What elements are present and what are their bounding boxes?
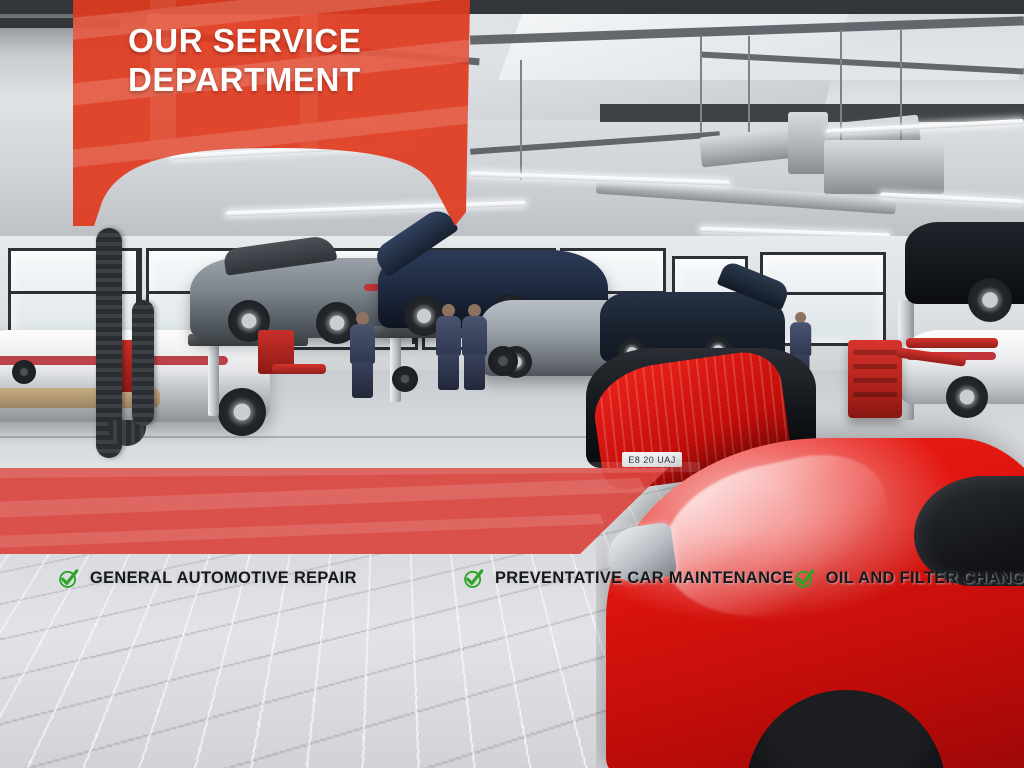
exhaust-extraction-hose [132, 300, 154, 426]
technician-body [436, 316, 461, 356]
description-band-shape [0, 462, 700, 554]
tire-on-floor [392, 366, 418, 392]
tool-drawer [853, 350, 897, 355]
technician-body [350, 324, 375, 364]
service-item-label: GENERAL AUTOMOTIVE REPAIR [90, 569, 357, 588]
duct-hanger [520, 60, 522, 180]
service-item-oil-and-filter-changes: OIL AND FILTER CHANGES [794, 568, 1024, 589]
check-circle-icon [794, 568, 815, 589]
ventilation-duct [788, 112, 828, 174]
ventilation-duct [824, 140, 944, 194]
services-checklist: GENERAL AUTOMOTIVE REPAIR PREVENTATIVE C… [58, 556, 1008, 736]
check-circle-icon [463, 568, 484, 589]
service-department-poster: E8 20 UAJ [0, 0, 1024, 768]
tool-drawer [853, 392, 897, 397]
technician-body [790, 322, 811, 356]
duct-hanger [700, 36, 702, 132]
service-item-label: PREVENTATIVE CAR MAINTENANCE [495, 569, 794, 588]
check-circle-icon [58, 568, 79, 589]
tire-on-floor [12, 360, 36, 384]
floor-jack [906, 338, 998, 348]
header-banner: OUR SERVICE DEPARTMENT [0, 0, 500, 232]
floor-jack [272, 364, 326, 374]
technician-body [462, 316, 487, 356]
service-item-preventative-car-maintenance: PREVENTATIVE CAR MAINTENANCE [463, 568, 794, 589]
duct-hanger [840, 30, 842, 140]
page-title: OUR SERVICE DEPARTMENT [128, 22, 468, 99]
technician-legs [438, 354, 459, 390]
service-item-general-automotive-repair: GENERAL AUTOMOTIVE REPAIR [58, 568, 463, 589]
floor-seam [0, 436, 620, 438]
service-item-label: OIL AND FILTER CHANGES [826, 569, 1024, 588]
vehicle-lift-post [208, 338, 219, 416]
technician-legs [464, 354, 485, 390]
car-wheel [968, 278, 1012, 322]
page-title-line-1: OUR SERVICE [128, 22, 468, 61]
tool-drawer [853, 364, 897, 369]
tire-on-floor [488, 346, 518, 376]
description-band: OUR ASE CERTIFIED TECHNICIANS ARE EQUIPP… [0, 462, 700, 558]
car-wheel [218, 388, 266, 436]
tool-drawer [853, 378, 897, 383]
duct-hanger [900, 30, 902, 140]
duct-hanger [748, 36, 750, 132]
technician-legs [352, 362, 373, 398]
page-title-line-2: DEPARTMENT [128, 61, 468, 100]
